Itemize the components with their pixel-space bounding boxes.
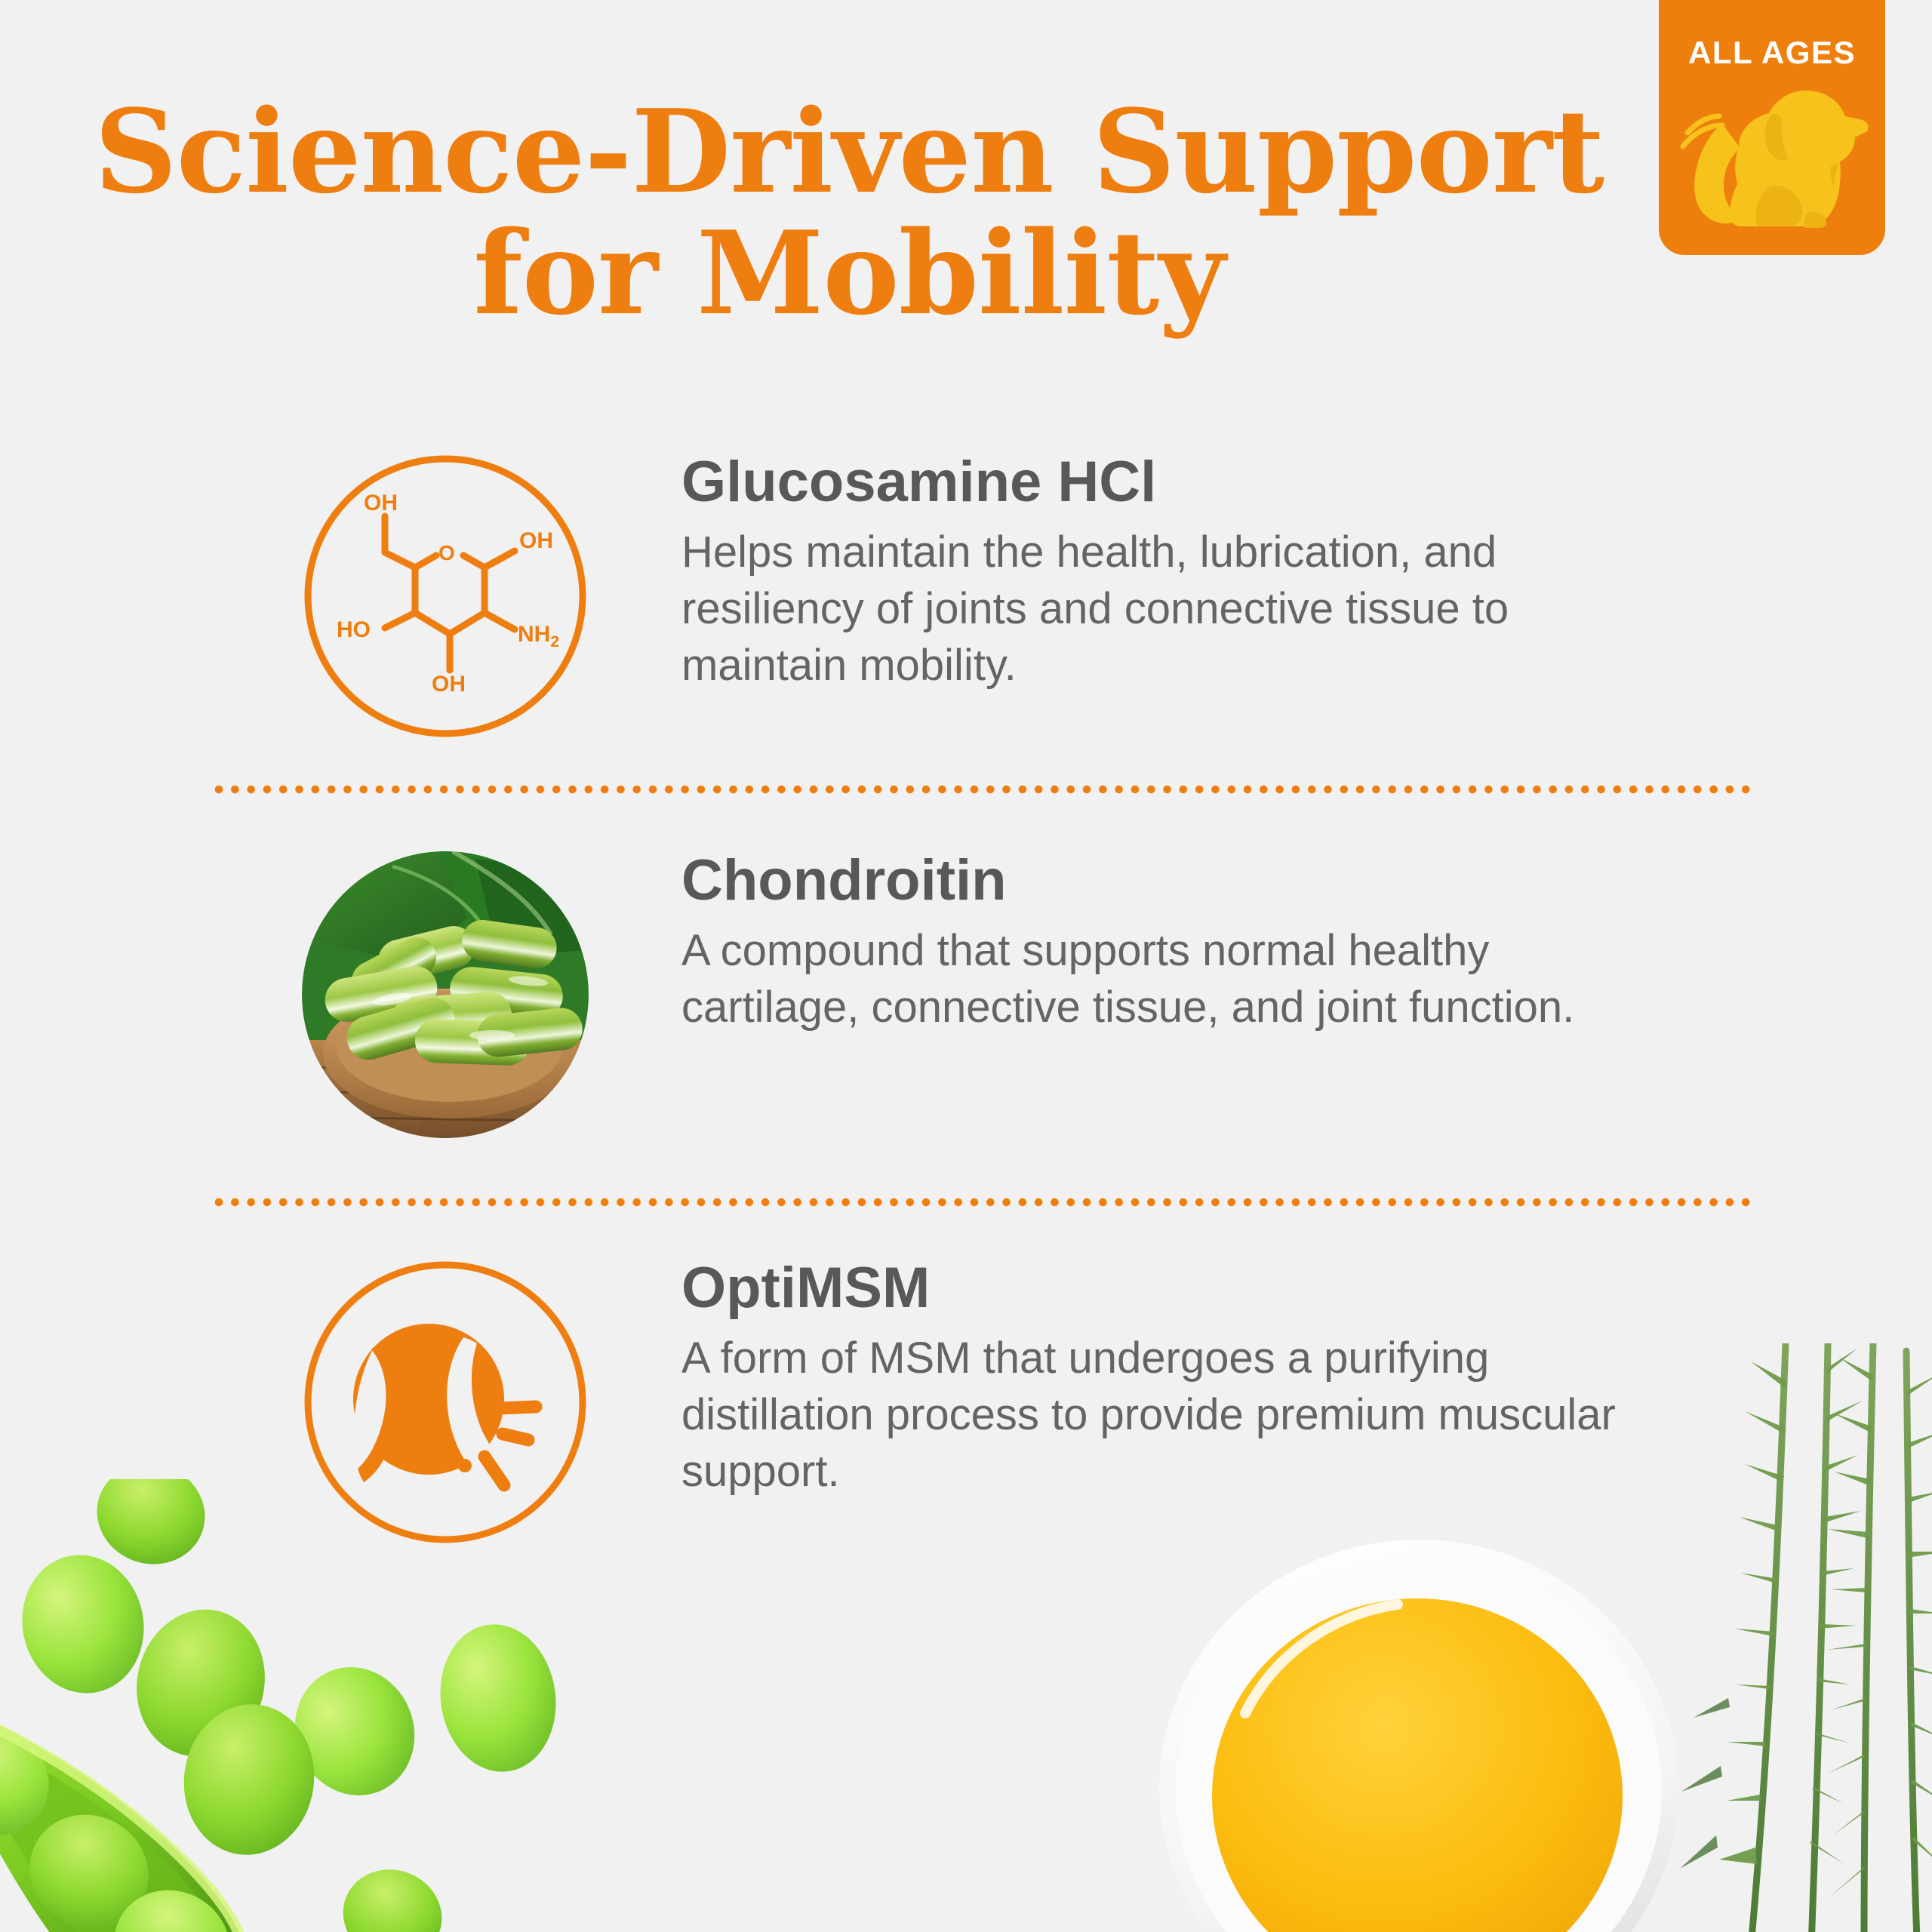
ingredient-body: Helps maintain the health, lubrication, … — [681, 524, 1655, 694]
ingredient-body: A form of MSM that undergoes a purifying… — [681, 1330, 1655, 1500]
molecule-label-right: OH — [519, 528, 553, 553]
all-ages-badge: ALL AGES — [1659, 0, 1885, 255]
page-title: Science-Driven Support for Mobility — [83, 91, 1615, 334]
section-divider-1 — [214, 784, 1753, 795]
infographic-canvas: ALL AGES Science-Driven Support for Mobi… — [0, 0, 1932, 1932]
glucosamine-molecule-icon: OH O OH HO NH2 OH — [302, 453, 589, 740]
ingredient-heading: OptiMSM — [681, 1259, 1655, 1318]
page-title-line-2: for Mobility — [83, 212, 1615, 334]
page-title-line-1: Science-Driven Support — [83, 91, 1615, 212]
all-ages-label: ALL AGES — [1659, 35, 1885, 71]
ingredient-body: A compound that supports normal healthy … — [681, 922, 1655, 1036]
green-peas-and-pod-decoration — [0, 1479, 634, 1932]
ingredient-text-chondroitin: Chondroitin A compound that supports nor… — [681, 851, 1655, 1035]
section-divider-2 — [214, 1197, 1753, 1207]
molecule-label-bottom: OH — [432, 672, 466, 697]
ingredient-text-optimsm: OptiMSM A form of MSM that undergoes a p… — [681, 1259, 1655, 1500]
sitting-dog-icon — [1669, 78, 1875, 243]
capsule-photo-circle — [302, 851, 589, 1138]
bowl-of-golden-oil-decoration — [1132, 1502, 1706, 1932]
molecule-label-ring-oxygen: O — [438, 541, 455, 565]
ingredient-heading: Chondroitin — [681, 851, 1655, 910]
green-capsules-photo — [302, 851, 589, 1138]
molecule-label-top-left: OH — [364, 491, 398, 515]
molecule-label-bottom-right: NH2 — [518, 622, 559, 651]
rosemary-sprigs-decoration — [1638, 1343, 1932, 1932]
ingredient-text-glucosamine: Glucosamine HCl Helps maintain the healt… — [681, 453, 1655, 694]
ingredient-heading: Glucosamine HCl — [681, 453, 1655, 512]
molecule-label-left: HO — [337, 617, 371, 642]
